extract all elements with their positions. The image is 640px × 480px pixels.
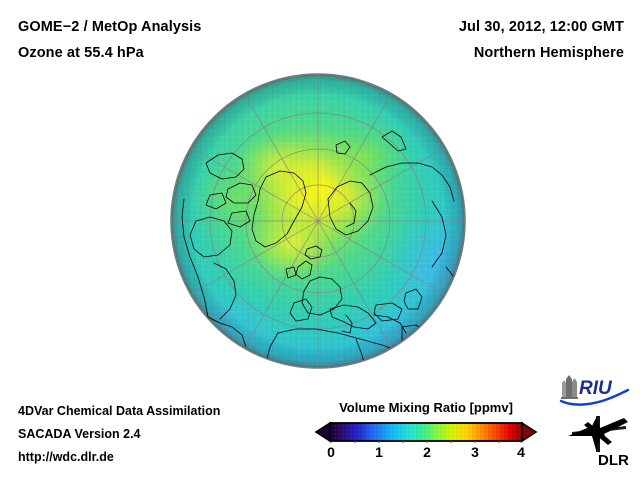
colorbar-tick-4: 4	[517, 444, 525, 460]
website-link[interactable]: http://wdc.dlr.de	[18, 446, 308, 469]
colorbar-dither	[330, 423, 522, 441]
colorbar-tick-labels: 0 1 2 3 4	[306, 444, 546, 464]
hemisphere-label: Northern Hemisphere	[324, 40, 624, 66]
colorbar-tick-1: 1	[375, 444, 383, 460]
timestamp-label: Jul 30, 2012, 12:00 GMT	[324, 14, 624, 40]
colorbar-title: Volume Mixing Ratio [ppmv]	[306, 399, 546, 417]
footer-attribution-block: 4DVar Chemical Data Assimilation SACADA …	[18, 400, 308, 469]
dlr-logo-svg: DLR	[566, 412, 632, 468]
colorbar-graphic	[306, 421, 546, 443]
dlr-logo[interactable]: DLR	[566, 412, 632, 468]
globe-map[interactable]	[170, 71, 470, 371]
colorbar-over-arrow	[522, 423, 536, 441]
colorbar-svg	[306, 421, 546, 443]
colorbar-tick-3: 3	[471, 444, 479, 460]
page-title: GOME−2 / MetOp Analysis	[18, 14, 348, 40]
method-label: 4DVar Chemical Data Assimilation	[18, 400, 308, 423]
colorbar: Volume Mixing Ratio [ppmv]	[306, 399, 546, 464]
version-label: SACADA Version 2.4	[18, 423, 308, 446]
riu-tower-icon	[561, 375, 578, 399]
page-subtitle: Ozone at 55.4 hPa	[18, 40, 348, 66]
colorbar-under-arrow	[316, 423, 330, 441]
riu-logo[interactable]: RIU	[558, 374, 632, 406]
header-left-block: GOME−2 / MetOp Analysis Ozone at 55.4 hP…	[18, 14, 348, 66]
riu-logo-svg: RIU	[558, 374, 632, 406]
dlr-bird-icon	[568, 416, 628, 452]
colorbar-tick-2: 2	[423, 444, 431, 460]
header-right-block: Jul 30, 2012, 12:00 GMT Northern Hemisph…	[324, 14, 624, 66]
colorbar-tick-0: 0	[327, 444, 335, 460]
dlr-logo-text: DLR	[598, 452, 629, 468]
globe-svg	[170, 71, 470, 371]
riu-logo-text: RIU	[579, 378, 613, 399]
